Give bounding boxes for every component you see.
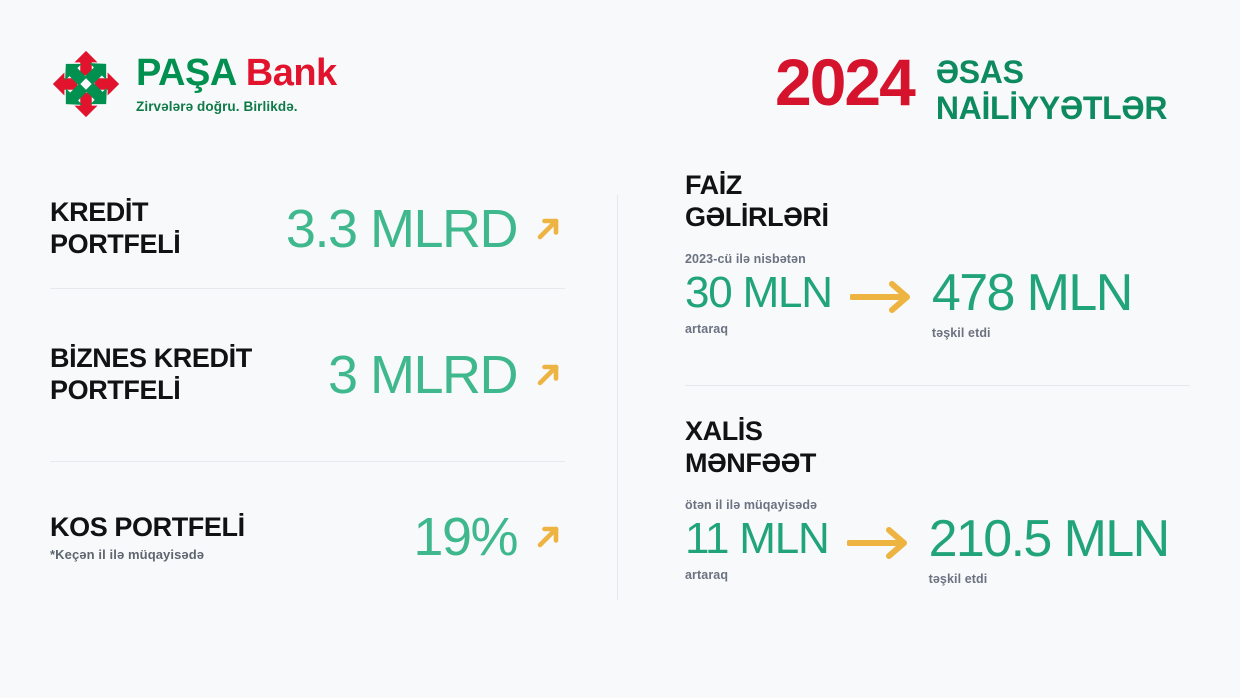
title-year: 2024 — [775, 50, 914, 115]
metric-row-kredit-portfeli: KREDİT PORTFELİ 3.3 MLRD — [50, 170, 565, 288]
arrow-right-icon — [847, 525, 911, 561]
left-column: KREDİT PORTFELİ 3.3 MLRD BİZNES KREDİT P… — [50, 170, 565, 612]
metric-heading: FAİZ GƏLİRLƏRİ — [685, 170, 1190, 234]
pasa-pinwheel-logo-icon — [50, 48, 122, 120]
arrow-up-right-icon — [531, 212, 565, 246]
metric-to: 478 MLN təşkil etdi — [932, 248, 1132, 343]
metric-from-caption: ötən il ilə müqayisədə — [685, 498, 829, 515]
metric-comparison: ötən il ilə müqayisədə 11 MLN artaraq 21… — [685, 494, 1190, 589]
metric-label-group: BİZNES KREDİT PORTFELİ — [50, 343, 252, 407]
metric-heading: XALİS MƏNFƏƏT — [685, 416, 1190, 480]
logo-text: PAŞABank Zirvələrə doğru. Birlikdə. — [136, 48, 337, 114]
metric-block-faiz-gelirleri: FAİZ GƏLİRLƏRİ 2023-cü ilə nisbətən 30 M… — [685, 170, 1190, 385]
pasa-bank-logo: PAŞABank Zirvələrə doğru. Birlikdə. — [50, 48, 337, 120]
metric-value: 3 MLRD — [328, 348, 517, 402]
right-column: FAİZ GƏLİRLƏRİ 2023-cü ilə nisbətən 30 M… — [685, 170, 1190, 611]
metric-label: KREDİT PORTFELİ — [50, 197, 180, 261]
title-line-1: ƏSAS — [936, 55, 1167, 91]
metric-from-amount: 11 MLN — [685, 515, 829, 563]
metric-value-group: 19% — [413, 510, 565, 564]
metric-footnote: *Keçən il ilə müqayisədə — [50, 547, 245, 562]
metric-label: KOS PORTFELİ — [50, 512, 245, 544]
metric-label-group: KOS PORTFELİ *Keçən il ilə müqayisədə — [50, 512, 245, 563]
arrow-right-icon — [850, 279, 914, 315]
logo-tagline: Zirvələrə doğru. Birlikdə. — [136, 99, 337, 114]
title-line-2: NAİLİYYƏTLƏR — [936, 91, 1167, 127]
metric-from-note: artaraq — [685, 322, 832, 339]
page-title: 2024 ƏSAS NAİLİYYƏTLƏR — [775, 50, 1167, 127]
metric-from: ötən il ilə müqayisədə 11 MLN artaraq — [685, 498, 829, 585]
metric-to: 210.5 MLN təşkil etdi — [929, 494, 1169, 589]
infographic-page: PAŞABank Zirvələrə doğru. Birlikdə. 2024… — [0, 0, 1240, 698]
metric-comparison: 2023-cü ilə nisbətən 30 MLN artaraq 478 … — [685, 248, 1190, 343]
metric-label-group: KREDİT PORTFELİ — [50, 197, 180, 261]
metric-block-xalis-menfeet: XALİS MƏNFƏƏT ötən il ilə müqayisədə 11 … — [685, 386, 1190, 611]
logo-wordmark: PAŞABank — [136, 54, 337, 92]
metric-value: 19% — [413, 510, 517, 564]
metric-from-note: artaraq — [685, 568, 829, 585]
metric-value-group: 3.3 MLRD — [286, 202, 565, 256]
metric-row-kos-portfeli: KOS PORTFELİ *Keçən il ilə müqayisədə 19… — [50, 462, 565, 612]
arrow-up-right-icon — [531, 358, 565, 392]
metric-row-biznes-kredit-portfeli: BİZNES KREDİT PORTFELİ 3 MLRD — [50, 289, 565, 461]
metric-to-note: təşkil etdi — [929, 572, 1169, 589]
metric-value-group: 3 MLRD — [328, 348, 565, 402]
metric-value: 3.3 MLRD — [286, 202, 517, 256]
metric-to-amount: 210.5 MLN — [929, 511, 1169, 567]
metric-from: 2023-cü ilə nisbətən 30 MLN artaraq — [685, 252, 832, 339]
metric-from-amount: 30 MLN — [685, 269, 832, 317]
header: PAŞABank Zirvələrə doğru. Birlikdə. 2024… — [0, 0, 1240, 160]
column-divider — [617, 195, 618, 600]
metric-to-note: təşkil etdi — [932, 326, 1132, 343]
metric-from-caption: 2023-cü ilə nisbətən — [685, 252, 832, 269]
metric-to-caption — [929, 494, 1169, 511]
metric-to-caption — [932, 248, 1132, 265]
logo-wordmark-pasa: PAŞA — [136, 52, 237, 94]
title-subtitle: ƏSAS NAİLİYYƏTLƏR — [936, 50, 1167, 127]
metric-label: BİZNES KREDİT PORTFELİ — [50, 343, 252, 407]
metric-to-amount: 478 MLN — [932, 265, 1132, 321]
arrow-up-right-icon — [531, 520, 565, 554]
logo-wordmark-bank: Bank — [246, 52, 337, 94]
